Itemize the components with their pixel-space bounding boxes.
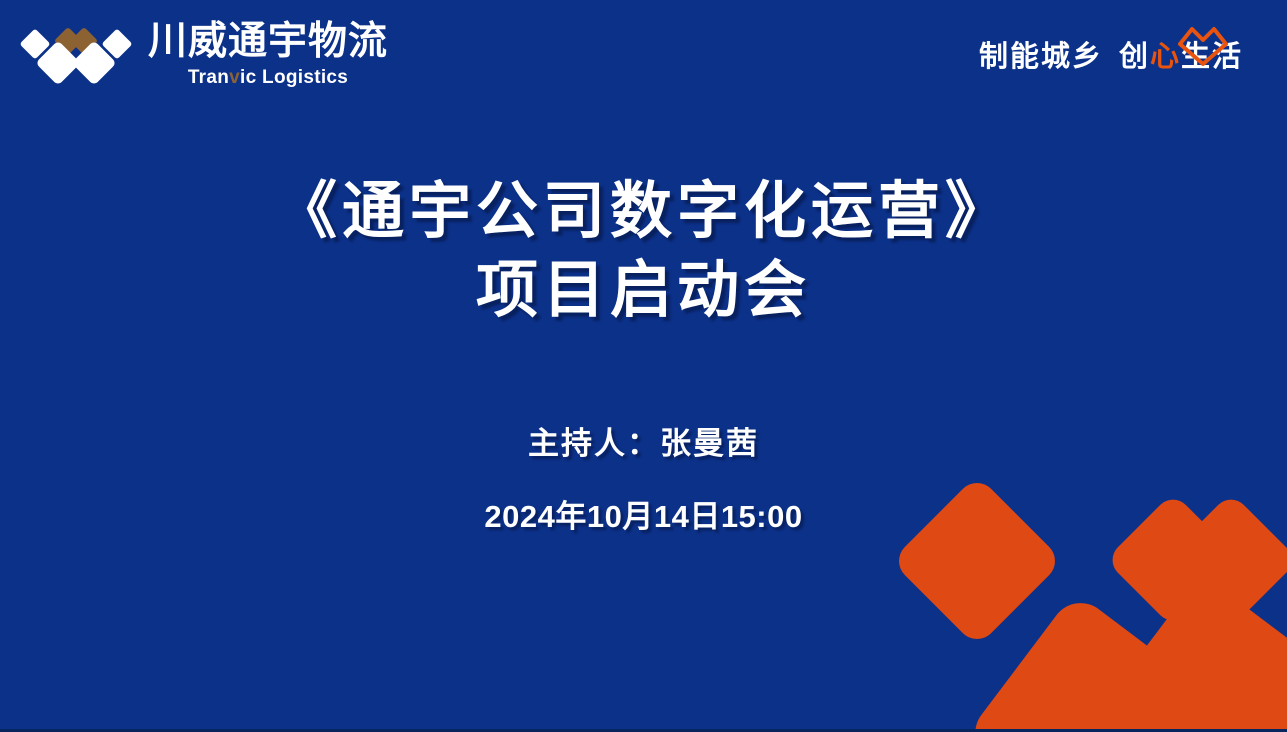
datetime-label: 2024年10月14日15:00 [0,491,1287,536]
brand-name-en: Tranvic Logistics [188,68,348,87]
decorative-shapes-layer [0,0,1287,732]
slide-title: 《通宇公司数字化运营》 项目启动会 [0,172,1287,329]
tagline-part-2-post: 生活 [1181,33,1243,75]
brand-en-accent: v [229,67,240,88]
orange-chevron-large-shape [984,566,1287,732]
host-label: 主持人：张曼茜 [0,418,1287,463]
company-tagline: 制能城乡创心生活 [979,33,1243,75]
chevron-large-right-block [1090,573,1287,732]
brand-en-pre: Tran [188,67,229,88]
tagline-part-1: 制能城乡 [979,33,1103,75]
brand-text: 川威通宇物流 Tranvic Logistics [148,22,388,87]
brand-name-cn: 川威通宇物流 [148,22,388,61]
tranvic-chevron-logo-icon [18,15,134,93]
tagline-heart-char: 心 [1150,33,1181,75]
title-line-1: 《通宇公司数字化运营》 [0,172,1287,251]
slide-header: 川威通宇物流 Tranvic Logistics 制能城乡创心生活 [0,0,1287,108]
tagline-part-2-pre: 创 [1119,33,1150,75]
brand-lockup: 川威通宇物流 Tranvic Logistics [18,15,388,93]
chevron-large-left-block [963,591,1222,732]
title-line-2: 项目启动会 [0,251,1287,330]
brand-en-post: ic Logistics [240,67,348,88]
slide-meta: 主持人：张曼茜 2024年10月14日15:00 [0,418,1287,536]
presentation-slide: 川威通宇物流 Tranvic Logistics 制能城乡创心生活 《通宇公司数… [0,0,1287,732]
